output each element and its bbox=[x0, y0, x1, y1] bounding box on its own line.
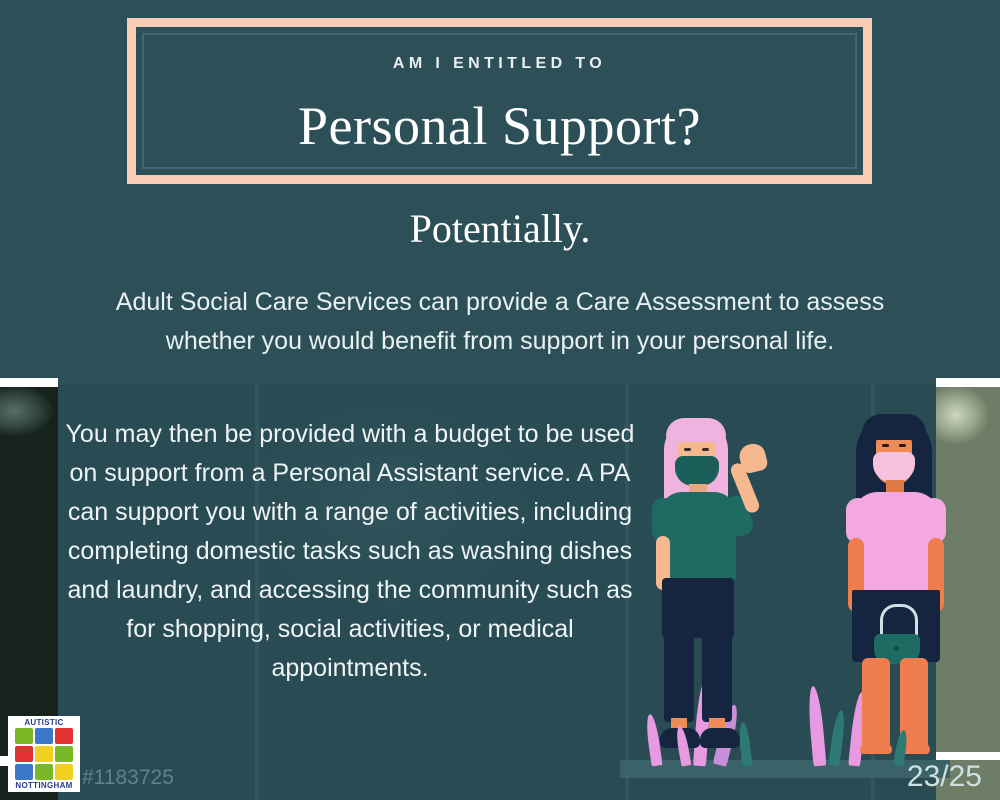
figure-right bbox=[838, 414, 958, 766]
logo-swatch bbox=[15, 728, 33, 744]
notch-top-right bbox=[936, 378, 1000, 387]
page-title: Personal Support? bbox=[298, 95, 701, 157]
logo-swatch bbox=[35, 746, 53, 762]
autistic-nottingham-logo: AUTISTIC NOTTINGHAM bbox=[8, 716, 80, 792]
illustration-two-people bbox=[620, 398, 950, 778]
answer-text: Potentially. bbox=[0, 205, 1000, 252]
eyebrow-text: AM I ENTITLED TO bbox=[393, 55, 606, 73]
logo-bottom-text: NOTTINGHAM bbox=[15, 781, 72, 790]
page-number: 23/25 bbox=[907, 760, 982, 794]
body-paragraph: You may then be provided with a budget t… bbox=[60, 415, 640, 688]
title-frame-inner: AM I ENTITLED TO Personal Support? bbox=[142, 33, 857, 169]
logo-swatch bbox=[55, 746, 73, 762]
logo-swatch bbox=[35, 728, 53, 744]
logo-top-text: AUTISTIC bbox=[24, 718, 63, 727]
figure-left bbox=[634, 418, 764, 766]
logo-swatch bbox=[55, 728, 73, 744]
watermark-id: #1183725 bbox=[82, 766, 174, 790]
notch-top-left bbox=[0, 378, 58, 387]
logo-swatch bbox=[15, 746, 33, 762]
logo-swatch bbox=[15, 764, 33, 780]
slide-canvas: AM I ENTITLED TO Personal Support? Poten… bbox=[0, 0, 1000, 800]
grass-blade-pink bbox=[807, 686, 827, 767]
title-frame: AM I ENTITLED TO Personal Support? bbox=[127, 18, 872, 184]
logo-swatch bbox=[55, 764, 73, 780]
logo-color-grid bbox=[15, 728, 73, 780]
logo-swatch bbox=[35, 764, 53, 780]
lede-paragraph: Adult Social Care Services can provide a… bbox=[110, 283, 890, 361]
